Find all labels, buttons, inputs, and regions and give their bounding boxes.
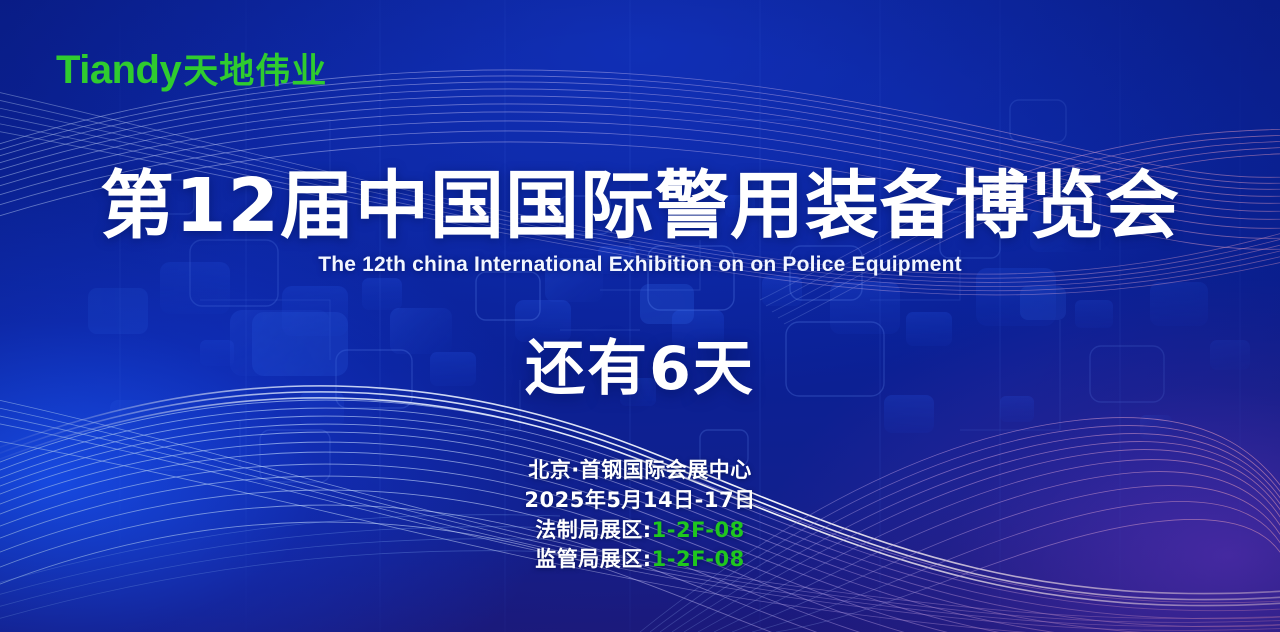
venue-line: 北京·首钢国际会展中心 (0, 456, 1280, 486)
exhibition-title-chinese: 第12届中国国际警用装备博览会 (0, 168, 1280, 245)
title-block: 第12届中国国际警用装备博览会 The 12th china Internati… (0, 168, 1280, 277)
booth-label-2: 监管局展区: (535, 547, 651, 571)
exhibition-countdown-banner: Tiandy 天地伟业 第12届中国国际警用装备博览会 The 12th chi… (0, 0, 1280, 632)
exhibition-title-english: The 12th china International Exhibition … (0, 253, 1280, 277)
countdown-block: 还有6天 (0, 320, 1280, 407)
dates-line: 2025年5月14日-17日 (0, 486, 1280, 516)
event-info-block: 北京·首钢国际会展中心 2025年5月14日-17日 法制局展区:1-2F-08… (0, 456, 1280, 575)
booth-line-2: 监管局展区:1-2F-08 (0, 545, 1280, 575)
countdown-days-text: 还有6天 (0, 320, 1280, 407)
tiandy-logo: Tiandy 天地伟业 (56, 50, 327, 90)
logo-english-text: Tiandy (56, 50, 181, 90)
booth-code-2: 1-2F-08 (652, 547, 745, 571)
booth-code-1: 1-2F-08 (652, 518, 745, 542)
logo-chinese-text: 天地伟业 (183, 54, 327, 89)
booth-label-1: 法制局展区: (535, 518, 651, 542)
booth-line-1: 法制局展区:1-2F-08 (0, 516, 1280, 546)
